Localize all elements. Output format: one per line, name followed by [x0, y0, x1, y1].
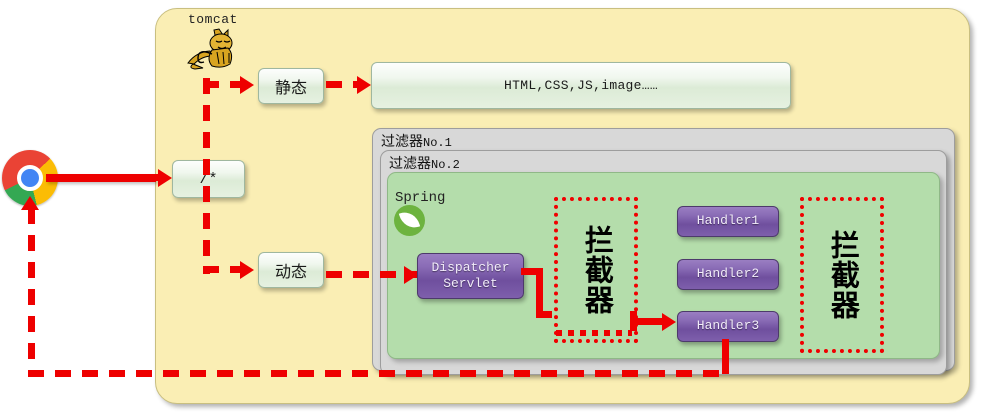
filter-1-no: No.1: [423, 136, 452, 150]
branch-spine-up: [203, 78, 210, 176]
filter-2-label: 过滤器No.2: [389, 153, 460, 173]
tomcat-cat-icon: [176, 26, 242, 70]
arrow-dispatcher-right: [536, 311, 552, 318]
static-resources-box: HTML,CSS,JS,image……: [371, 62, 791, 109]
arrowhead-to-dispatcher: [404, 266, 418, 284]
dispatcher-servlet-box[interactable]: Dispatcher Servlet: [417, 253, 524, 299]
spring-leaf-icon: [394, 205, 425, 236]
filter-1-label: 过滤器No.1: [381, 131, 452, 151]
response-horizontal: [28, 370, 728, 377]
handler-3-box[interactable]: Handler3: [677, 311, 779, 342]
arrow-to-dynamic: [203, 266, 245, 273]
dynamic-branch-box[interactable]: 动态: [258, 252, 324, 288]
interceptor-2-box: 拦截器: [800, 197, 884, 353]
response-vertical-to-client: [28, 208, 35, 374]
diagram-canvas: tomcat /* 静态 HTML,CSS,JS,image…… 动态 过滤器N…: [0, 0, 1005, 413]
dispatcher-line-2: Servlet: [443, 276, 498, 292]
filter-2-no: No.2: [431, 158, 460, 172]
arrowhead-to-static: [240, 76, 254, 94]
arrowhead-to-dynamic: [240, 261, 254, 279]
arrowhead-to-slashstar: [158, 169, 172, 187]
response-down-from-handler3: [722, 339, 729, 374]
handler-2-box[interactable]: Handler2: [677, 259, 779, 290]
static-branch-box[interactable]: 静态: [258, 68, 324, 104]
filter-2-name: 过滤器: [389, 155, 431, 171]
arrowhead-to-client: [21, 196, 39, 210]
spring-label: Spring: [395, 190, 445, 206]
dispatcher-line-1: Dispatcher: [431, 260, 509, 276]
handler-1-box[interactable]: Handler1: [677, 206, 779, 237]
filter-1-name: 过滤器: [381, 133, 423, 149]
arrowhead-to-resources: [357, 76, 371, 94]
arrow-to-static: [203, 81, 245, 88]
arrowhead-to-handler3: [662, 313, 676, 331]
tomcat-label: tomcat: [188, 12, 238, 27]
interceptor-1-box: 拦截器: [554, 197, 638, 343]
branch-spine-down: [203, 186, 210, 274]
